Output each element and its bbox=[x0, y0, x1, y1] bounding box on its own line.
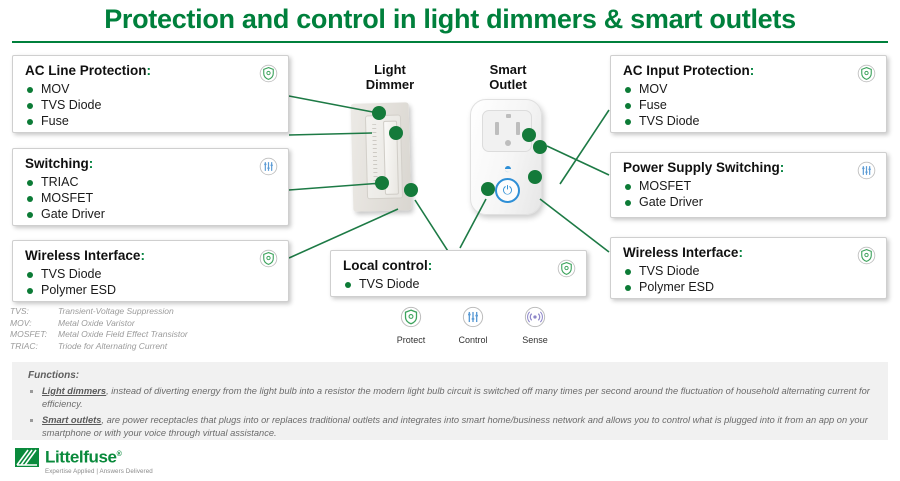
panel-heading: Local control: bbox=[343, 258, 576, 273]
panel-heading: AC Line Protection: bbox=[25, 63, 278, 78]
panel-heading: Switching: bbox=[25, 156, 278, 171]
list-item: MOSFET bbox=[25, 190, 278, 206]
littelfuse-mark-icon bbox=[14, 446, 40, 470]
control-sliders-icon bbox=[462, 306, 484, 328]
panel-item-list: MOV TVS Diode Fuse bbox=[25, 81, 278, 129]
legend-label: Control bbox=[450, 335, 496, 345]
hotspot-dot bbox=[528, 170, 542, 184]
legend-item-sense[interactable]: Sense bbox=[512, 306, 558, 345]
list-item: MOSFET bbox=[623, 178, 876, 194]
hotspot-dot bbox=[372, 106, 386, 120]
panel-ac-input-protection[interactable]: AC Input Protection: MOV Fuse TVS Diode bbox=[610, 55, 887, 133]
device-label-light-dimmer: Light Dimmer bbox=[340, 62, 440, 92]
panel-power-supply-switching[interactable]: Power Supply Switching: MOSFET Gate Driv… bbox=[610, 152, 887, 218]
protect-shield-icon bbox=[857, 64, 876, 83]
panel-heading: Wireless Interface: bbox=[623, 245, 876, 260]
protect-shield-icon bbox=[557, 259, 576, 278]
list-item: Fuse bbox=[623, 97, 876, 113]
panel-item-list: TVS Diode bbox=[343, 276, 576, 292]
slide-canvas: Protection and control in light dimmers … bbox=[0, 0, 900, 481]
panel-item-list: TRIAC MOSFET Gate Driver bbox=[25, 174, 278, 222]
hotspot-dot bbox=[533, 140, 547, 154]
list-item: Polymer ESD bbox=[25, 282, 278, 298]
list-item: TRIAC bbox=[25, 174, 278, 190]
protect-shield-icon bbox=[259, 249, 278, 268]
list-item: Fuse bbox=[25, 113, 278, 129]
function-legend: Protect Control Sense bbox=[388, 306, 558, 345]
panel-local-control[interactable]: Local control: TVS Diode bbox=[330, 250, 587, 297]
list-item: TVS Diode bbox=[623, 263, 876, 279]
list-item: Polymer ESD bbox=[623, 279, 876, 295]
panel-item-list: TVS Diode Polymer ESD bbox=[25, 266, 278, 298]
list-item: MOV bbox=[623, 81, 876, 97]
legend-item-protect[interactable]: Protect bbox=[388, 306, 434, 345]
panel-heading: Wireless Interface: bbox=[25, 248, 278, 263]
list-item: Gate Driver bbox=[25, 206, 278, 222]
control-sliders-icon bbox=[857, 161, 876, 180]
list-item: TVS Diode bbox=[25, 97, 278, 113]
logo-wordmark: Littelfuse® bbox=[45, 446, 153, 466]
littelfuse-logo[interactable]: Littelfuse® Expertise Applied | Answers … bbox=[14, 446, 153, 475]
legend-label: Sense bbox=[512, 335, 558, 345]
list-item: TVS Diode bbox=[623, 113, 876, 129]
logo-tagline: Expertise Applied | Answers Delivered bbox=[45, 468, 153, 475]
list-item: MOV bbox=[25, 81, 278, 97]
control-sliders-icon bbox=[259, 157, 278, 176]
hotspot-dot bbox=[375, 176, 389, 190]
panel-ac-line-protection[interactable]: AC Line Protection: MOV TVS Diode Fuse bbox=[12, 55, 289, 133]
sense-waves-icon bbox=[524, 306, 546, 328]
list-item: TVS Diode bbox=[25, 266, 278, 282]
list-item: Gate Driver bbox=[623, 194, 876, 210]
hotspot-dot bbox=[481, 182, 495, 196]
hotspot-dot bbox=[404, 183, 418, 197]
panel-wireless-interface-right[interactable]: Wireless Interface: TVS Diode Polymer ES… bbox=[610, 237, 887, 299]
protect-shield-icon bbox=[857, 246, 876, 265]
protect-shield-icon bbox=[400, 306, 422, 328]
hotspot-dot bbox=[389, 126, 403, 140]
device-label-smart-outlet: Smart Outlet bbox=[458, 62, 558, 92]
panel-item-list: TVS Diode Polymer ESD bbox=[623, 263, 876, 295]
list-item: TVS Diode bbox=[343, 276, 576, 292]
panel-switching[interactable]: Switching: TRIAC MOSFET Gate Driver bbox=[12, 148, 289, 226]
legend-label: Protect bbox=[388, 335, 434, 345]
protect-shield-icon bbox=[259, 64, 278, 83]
panel-heading: AC Input Protection: bbox=[623, 63, 876, 78]
panel-heading: Power Supply Switching: bbox=[623, 160, 876, 175]
legend-item-control[interactable]: Control bbox=[450, 306, 496, 345]
panel-item-list: MOSFET Gate Driver bbox=[623, 178, 876, 210]
panel-wireless-interface-left[interactable]: Wireless Interface: TVS Diode Polymer ES… bbox=[12, 240, 289, 302]
hotspot-dot bbox=[522, 128, 536, 142]
panel-item-list: MOV Fuse TVS Diode bbox=[623, 81, 876, 129]
